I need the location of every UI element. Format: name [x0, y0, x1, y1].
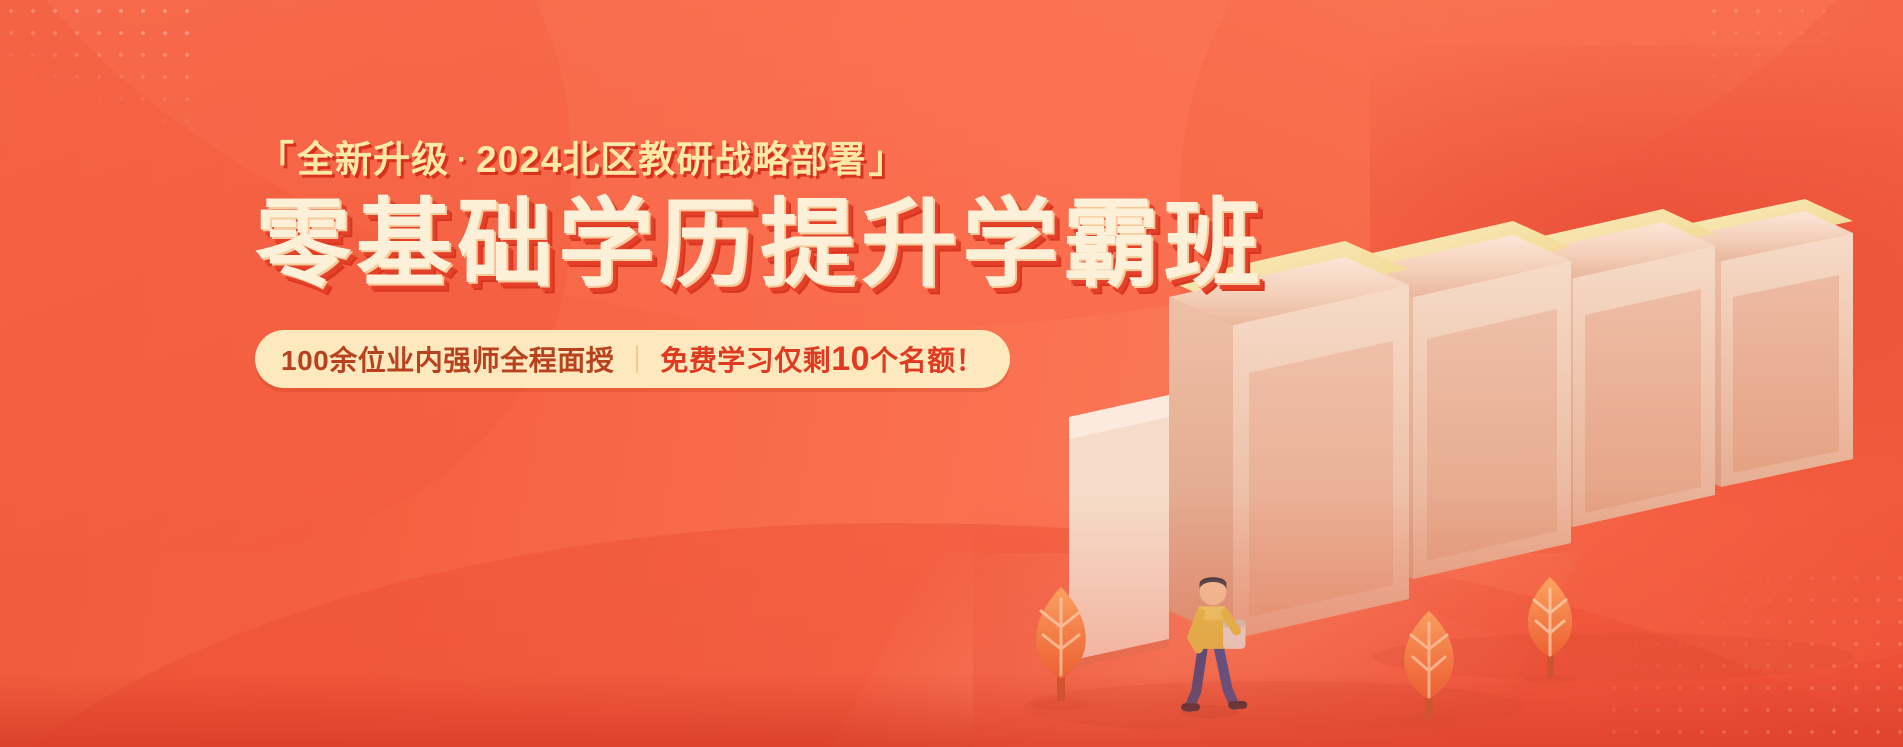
pill-seat-count: 10: [831, 340, 870, 378]
dot-pattern-top-right: [1703, 0, 1843, 80]
pill-right-label: 免费学习仅剩10个名额！: [660, 339, 984, 379]
dot-pattern-top-left: [0, 0, 190, 130]
subtitle-part-1: 全新升级: [297, 139, 449, 180]
promo-banner: 「全新升级·2024北区教研战略部署」 零基础学历提升学霸班 100余位业内强师…: [0, 0, 1903, 747]
bracket-open-icon: 「: [255, 139, 297, 180]
banner-subtitle: 「全新升级·2024北区教研战略部署」: [255, 140, 1075, 181]
pill-left-label: 100余位业内强师全程面授: [281, 339, 614, 379]
banner-highlight-pill[interactable]: 100余位业内强师全程面授 免费学习仅剩10个名额！: [255, 330, 1010, 388]
subtitle-separator-dot: ·: [449, 143, 476, 176]
background-glow-right: [1370, 45, 1903, 538]
pill-divider: [636, 345, 638, 373]
banner-text-block: 「全新升级·2024北区教研战略部署」 零基础学历提升学霸班 100余位业内强师…: [255, 140, 1075, 388]
pill-right-prefix: 免费学习仅剩: [660, 345, 831, 376]
banner-main-title: 零基础学历提升学霸班: [255, 193, 1075, 297]
pill-right-suffix: 个名额！: [870, 345, 984, 376]
dot-pattern-bottom-right: [1603, 567, 1903, 747]
subtitle-part-2: 2024北区教研战略部署: [476, 139, 866, 180]
bracket-close-icon: 」: [866, 139, 908, 180]
